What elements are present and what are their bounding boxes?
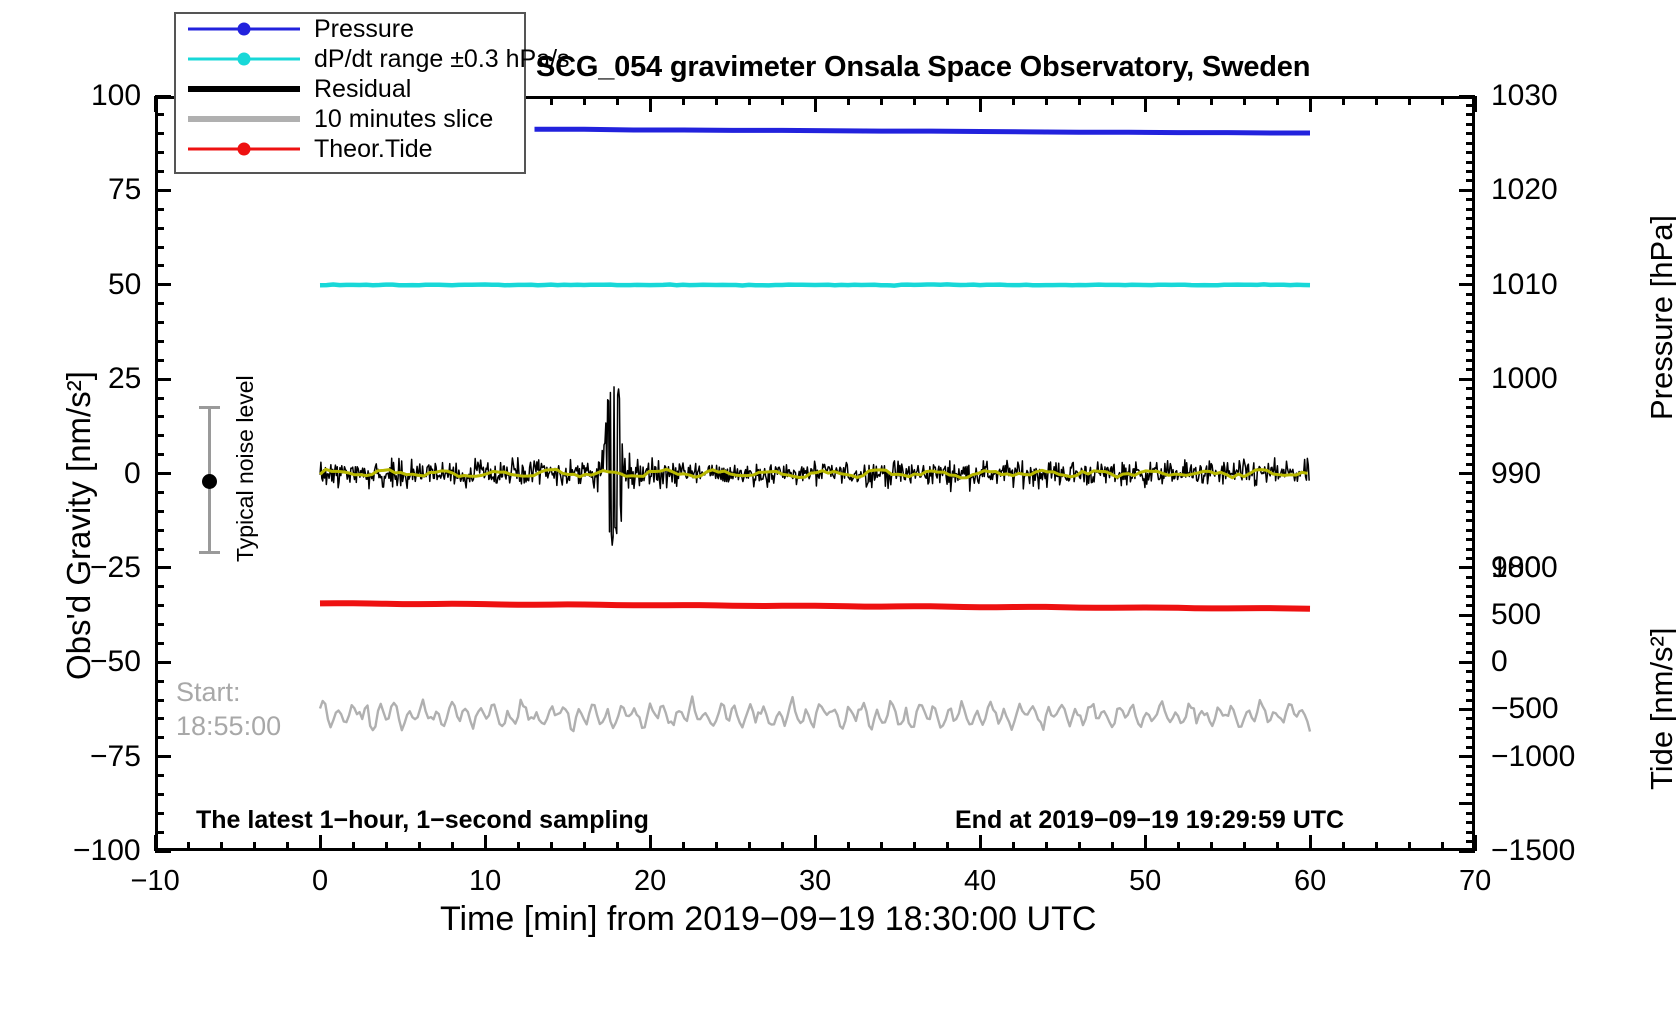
legend-item-10-minutes-slice[interactable]: 10 minutes slice <box>176 104 524 134</box>
legend-swatch <box>188 19 300 39</box>
legend-item-theor-tide[interactable]: Theor.Tide <box>176 134 524 164</box>
legend-dot-icon <box>238 23 251 36</box>
noise-level-label: Typical noise level <box>232 375 259 562</box>
legend-item-label: Pressure <box>314 17 414 42</box>
legend-item-residual[interactable]: Residual <box>176 74 524 104</box>
trace-pressure <box>535 129 1311 133</box>
noise-level-errorbar <box>208 406 211 554</box>
legend-swatch <box>188 49 300 69</box>
legend-item-label: dP/dt range ±0.3 hPa/s <box>314 47 570 72</box>
legend-dot-icon <box>238 143 251 156</box>
trace-residual <box>320 387 1309 545</box>
noise-cap-top <box>199 406 220 409</box>
noise-center-dot <box>202 474 217 489</box>
legend-dot-icon <box>238 53 251 66</box>
chart-canvas: SCG_054 gravimeter Onsala Space Observat… <box>0 0 1676 1020</box>
legend-item-pressure[interactable]: Pressure <box>176 14 524 44</box>
legend-item-label: 10 minutes slice <box>314 107 493 132</box>
legend-line-icon <box>188 86 300 92</box>
trace-dpdt <box>320 284 1310 285</box>
footer-left-note: The latest 1−hour, 1−second sampling <box>196 806 649 835</box>
legend: PressuredP/dt range ±0.3 hPa/sResidual10… <box>174 12 526 174</box>
legend-swatch <box>188 139 300 159</box>
legend-swatch <box>188 79 300 99</box>
noise-cap-bottom <box>199 551 220 554</box>
trace-ten-minutes-slice <box>320 697 1310 732</box>
legend-item-label: Theor.Tide <box>314 137 433 162</box>
trace-theor-tide <box>320 603 1310 609</box>
legend-swatch <box>188 109 300 129</box>
legend-line-icon <box>188 116 300 122</box>
start-label-word: Start: <box>176 676 281 710</box>
start-time-annotation: Start: 18:55:00 <box>176 676 281 744</box>
start-label-time: 18:55:00 <box>176 710 281 744</box>
legend-item-label: Residual <box>314 77 411 102</box>
footer-right-note: End at 2019−09−19 19:29:59 UTC <box>955 806 1344 835</box>
legend-item-dp-dt-range-0-3-hpa-s[interactable]: dP/dt range ±0.3 hPa/s <box>176 44 524 74</box>
